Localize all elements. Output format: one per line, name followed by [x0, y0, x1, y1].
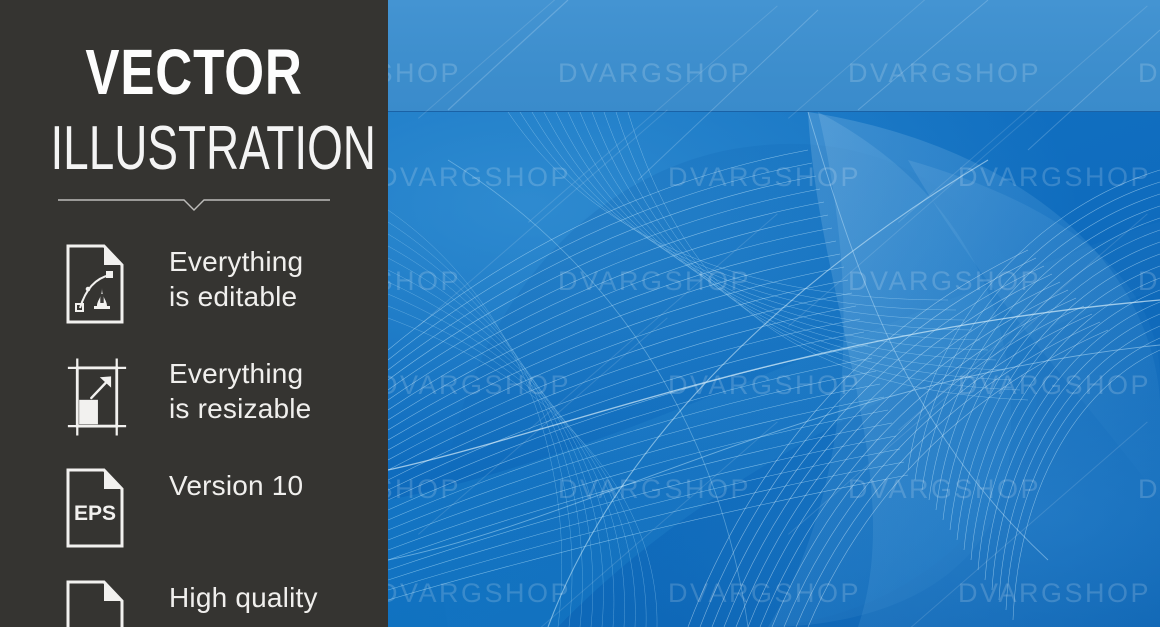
feature-label-line1: Version 10: [169, 470, 303, 501]
preview-stage: DVARGSHOPDVARGSHOPDVARGSHOPDVARGSHOPDVAR…: [0, 0, 1160, 627]
feature-row: EPS Version 10: [0, 468, 388, 568]
eps-icon-label: EPS: [74, 502, 116, 525]
feature-label-line1: Everything: [169, 246, 303, 277]
artwork-preview: DVARGSHOPDVARGSHOPDVARGSHOPDVARGSHOPDVAR…: [388, 0, 1160, 627]
feature-label: Everything is resizable: [169, 356, 311, 426]
feature-label-line1: Everything: [169, 358, 303, 389]
feature-label-line1: High quality: [169, 582, 318, 613]
feature-label-line2: is editable: [169, 279, 303, 314]
feature-row: Everything is editable: [0, 244, 388, 344]
feature-label: Everything is editable: [169, 244, 303, 314]
resize-arrow-crop-marks-icon: [66, 356, 126, 440]
document-icon: [66, 580, 126, 627]
eps-file-icon: EPS: [66, 468, 126, 552]
feature-label-line2: is resizable: [169, 391, 311, 426]
page-title-secondary: ILLUSTRATION: [50, 118, 337, 180]
feature-row: High quality: [0, 580, 388, 627]
feature-label: High quality: [169, 580, 318, 615]
info-panel: VECTOR ILLUSTRATION: [0, 0, 388, 627]
artwork-line-mesh: [388, 0, 1160, 627]
feature-row: Everything is resizable: [0, 356, 388, 456]
feature-label: Version 10: [169, 468, 303, 503]
v-notch-divider: [58, 188, 330, 212]
page-title-primary: VECTOR: [39, 40, 349, 104]
document-pen-tool-icon: [66, 244, 126, 328]
